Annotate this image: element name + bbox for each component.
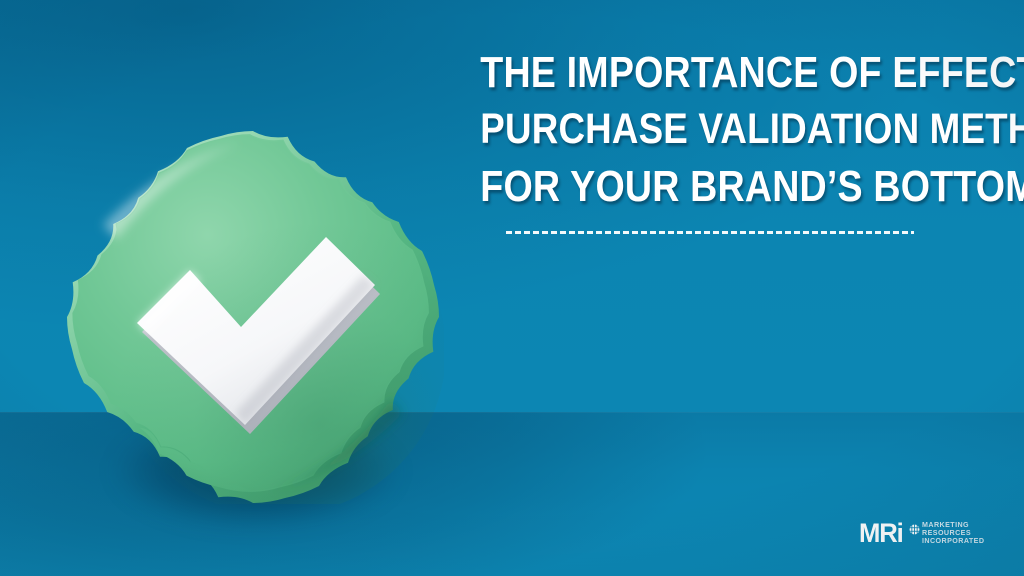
dashed-divider	[506, 231, 914, 234]
logo-wordmark: MRi	[859, 520, 903, 547]
headline-line-1: THE IMPORTANCE OF EFFECTIVE	[480, 44, 955, 101]
logo-lockup: MARKETING RESOURCES INCORPORATED	[909, 521, 988, 546]
headline: THE IMPORTANCE OF EFFECTIVE PURCHASE VAL…	[440, 44, 996, 215]
badge-checkmark-icon	[62, 128, 444, 504]
headline-line-3: FOR YOUR BRAND’S BOTTOM LINE	[480, 158, 955, 215]
banner-canvas: THE IMPORTANCE OF EFFECTIVE PURCHASE VAL…	[0, 0, 1024, 576]
logo-text-lines: MARKETING RESOURCES INCORPORATED	[922, 521, 984, 546]
mri-logo: MRi MARKETING RESOURCES INCORPORAT	[859, 518, 988, 548]
headline-line-2: PURCHASE VALIDATION METHODS	[480, 101, 955, 158]
globe-icon	[909, 522, 920, 540]
logo-line-3: INCORPORATED	[922, 537, 984, 545]
verified-badge-illustration	[62, 128, 444, 504]
